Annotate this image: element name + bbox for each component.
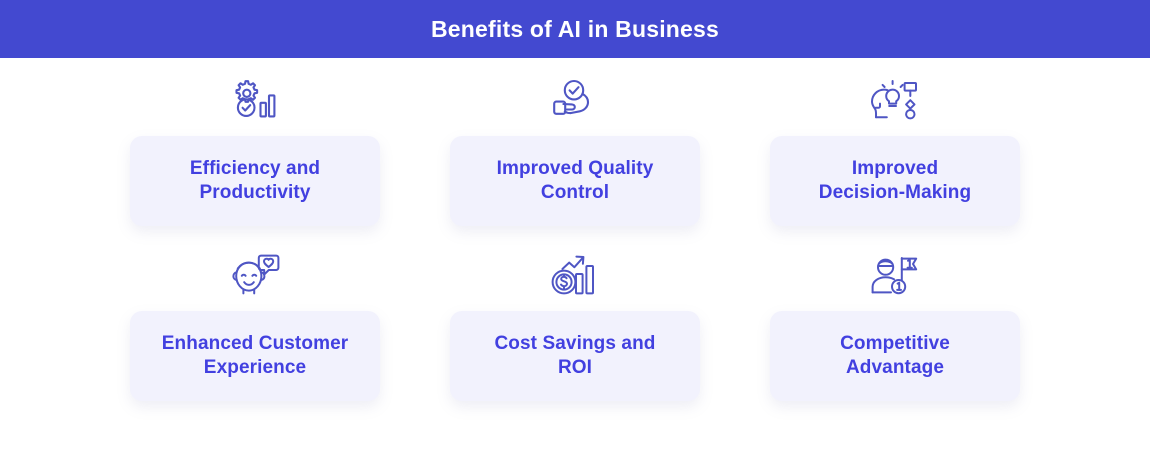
header-bar: Benefits of AI in Business: [0, 0, 1150, 58]
benefit-card-2[interactable]: Improved Quality Control: [450, 136, 700, 226]
benefit-label-4: Enhanced Customer Experience: [162, 332, 348, 381]
benefits-grid: Efficiency and Productivity Improved Qua…: [0, 58, 1150, 451]
benefit-label-3: Improved Decision-Making: [819, 157, 971, 206]
benefit-cell-2: Improved Quality Control: [450, 76, 700, 251]
benefit-cell-4: Enhanced Customer Experience: [130, 251, 380, 426]
benefit-cell-3: Improved Decision-Making: [770, 76, 1020, 251]
benefit-card-6[interactable]: Competitive Advantage: [770, 311, 1020, 401]
benefit-label-6: Competitive Advantage: [840, 332, 950, 381]
page-title: Benefits of AI in Business: [431, 18, 719, 41]
benefit-card-1[interactable]: Efficiency and Productivity: [130, 136, 380, 226]
benefit-cell-6: Competitive Advantage: [770, 251, 1020, 426]
benefit-cell-5: Cost Savings and ROI: [450, 251, 700, 426]
benefit-card-4[interactable]: Enhanced Customer Experience: [130, 311, 380, 401]
benefit-cell-1: Efficiency and Productivity: [130, 76, 380, 251]
head-lightbulb-flowchart-icon: [865, 76, 925, 124]
benefit-card-5[interactable]: Cost Savings and ROI: [450, 311, 700, 401]
gear-check-barchart-icon: [225, 76, 285, 124]
benefit-card-3[interactable]: Improved Decision-Making: [770, 136, 1020, 226]
infographic-page: Benefits of AI in Business Efficiency an…: [0, 0, 1150, 451]
person-first-place-flag-icon: [865, 251, 925, 299]
dollar-coin-growth-chart-icon: [545, 251, 605, 299]
benefit-label-1: Efficiency and Productivity: [190, 157, 320, 206]
smiling-face-heart-bubble-icon: [225, 251, 285, 299]
benefit-label-2: Improved Quality Control: [497, 157, 654, 206]
benefit-label-5: Cost Savings and ROI: [494, 332, 655, 381]
hand-holding-check-icon: [545, 76, 605, 124]
